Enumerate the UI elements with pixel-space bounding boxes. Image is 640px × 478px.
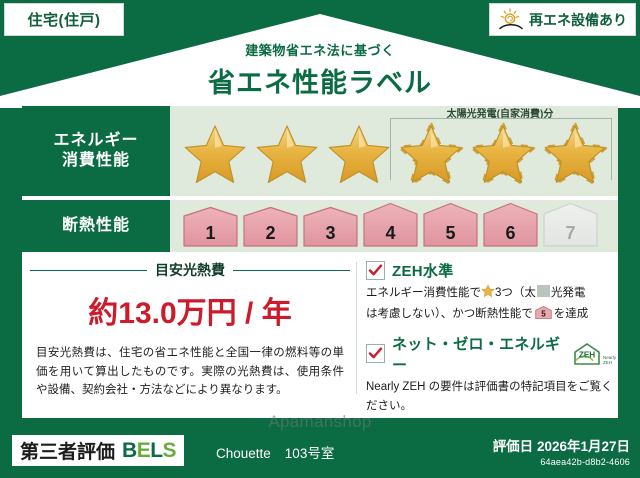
energy-performance-label: エネルギー 消費性能 (22, 106, 170, 196)
evaluation-date: 評価日 2026年1月27日 (493, 435, 630, 455)
net-zero-energy-description: Nearly ZEH の要件は評価書の特記項目をご覧ください。 (366, 378, 616, 417)
energy-performance-row: エネルギー 消費性能 太陽光発電(自家消費)分 (22, 106, 618, 196)
utility-cost-heading: 目安光熱費 (30, 260, 350, 280)
star-5 (468, 120, 538, 186)
label-subtitle: 建築物省エネ法に基づく (0, 40, 640, 59)
watermark: Apamanshop (0, 412, 640, 432)
checkbox-checked-icon-2 (366, 344, 385, 363)
star-3 (324, 120, 394, 186)
insulation-level-7: 7 (542, 202, 599, 248)
star-glyph (183, 124, 247, 184)
checkbox-checked-icon (366, 261, 385, 280)
zeh-column: ZEH水準 エネルギー消費性能で3つ（太光発電は考慮しない）、かつ断熱性能で5を… (366, 256, 616, 416)
star-2 (252, 120, 322, 186)
zeh-house-badge-icon: ZEH Nearly ZEH (572, 342, 616, 366)
utility-cost-heading-text: 目安光熱費 (155, 260, 225, 280)
utility-cost-note: 目安光熱費は、住宅の省エネ性能と全国一律の燃料等の単価を用いて算出したものです。… (30, 344, 350, 400)
bels-letter-l: L (150, 439, 162, 462)
insulation-level-number: 2 (265, 223, 275, 244)
zeh-desc-part-d: は考慮しない）、かつ断熱性能で (366, 308, 533, 320)
insulation-level-houses: 1234567 (182, 206, 599, 248)
zeh-desc-part-b: 3つ（太 (495, 287, 536, 299)
insulation-label-text: 断熱性能 (62, 216, 130, 236)
heading-rule-right (233, 270, 350, 271)
insulation-level-number: 4 (385, 223, 395, 244)
bels-logo-jp-text: 第三者評価 (20, 437, 115, 464)
evaluation-info: 評価日 2026年1月27日 64aea42b-d8b2-4606 (493, 435, 630, 467)
star-4 (396, 120, 466, 186)
star-glyph (399, 124, 463, 184)
insulation-level-number: 6 (505, 223, 515, 244)
room-number: 103号室 (285, 446, 335, 461)
zeh-standard-check-row: ZEH水準 (366, 260, 616, 281)
sun-icon (498, 8, 524, 32)
zeh-desc-part-a: エネルギー消費性能で (366, 287, 481, 299)
star-glyph (471, 124, 535, 184)
insulation-level-number: 3 (325, 223, 335, 244)
zeh-badge-sub2: ZEH (603, 360, 612, 365)
utility-cost-amount: 約13.0万円 / 年 (30, 288, 350, 332)
insulation-levels-area: 1234567 (170, 200, 618, 252)
evaluation-id: 64aea42b-d8b2-4606 (493, 457, 630, 467)
insulation-level-6: 6 (482, 202, 539, 248)
net-zero-energy-label: ネット・ゼロ・エネルギー (392, 333, 561, 375)
bels-letter-b: B (122, 439, 137, 462)
energy-stars-area: 太陽光発電(自家消費)分 (170, 106, 618, 196)
insulation-level-number: 1 (205, 223, 215, 244)
bels-letter-e: E (137, 439, 151, 462)
energy-label-line2: 消費性能 (62, 151, 130, 171)
insulation-performance-row: 断熱性能 1234567 (22, 200, 618, 252)
zeh-desc-part-c: 光発電 (551, 287, 586, 299)
insulation-level-number: 7 (565, 223, 575, 244)
insulation-level-4: 4 (362, 202, 419, 248)
heading-rule-left (30, 270, 147, 271)
insulation-level-2: 2 (242, 206, 299, 248)
insulation-level-number: 5 (445, 223, 455, 244)
net-zero-energy-check-row: ネット・ゼロ・エネルギー ZEH Nearly ZEH (366, 333, 616, 375)
footer-bar: 第三者評価 BELS Chouette103号室 評価日 2026年1月27日 … (0, 428, 640, 478)
bels-logo: 第三者評価 BELS (12, 435, 184, 466)
energy-star-rating (180, 120, 610, 186)
utility-cost-column: 目安光熱費 約13.0万円 / 年 目安光熱費は、住宅の省エネ性能と全国一律の燃… (30, 256, 350, 400)
zeh-desc-part-e: を達成 (554, 308, 589, 320)
star-glyph (255, 124, 319, 184)
column-divider (356, 262, 357, 394)
star-6 (540, 120, 610, 186)
bels-letter-s: S (163, 439, 177, 462)
renewable-energy-text: 再エネ設備あり (529, 10, 627, 30)
zeh-standard-description: エネルギー消費性能で3つ（太光発電は考慮しない）、かつ断熱性能で5を達成 (366, 284, 616, 325)
label-title: 省エネ性能ラベル (0, 61, 640, 100)
star-1 (180, 120, 250, 186)
bels-logo-wordmark: BELS (122, 439, 176, 463)
zeh-badge-subtext: Nearly ZEH (603, 356, 616, 366)
energy-label-line1: エネルギー (53, 131, 138, 151)
dwelling-type-text: 住宅(住戸) (28, 9, 101, 30)
dwelling-type-tag: 住宅(住戸) (4, 3, 124, 36)
redacted-character (537, 285, 550, 297)
insulation-performance-label: 断熱性能 (22, 200, 170, 252)
property-name: Chouette (216, 446, 271, 461)
insulation-level-1: 1 (182, 206, 239, 248)
renewable-energy-tag: 再エネ設備あり (489, 3, 636, 36)
bels-energy-label: 建築物省エネ法に基づく 省エネ性能ラベル 住宅(住戸) 再エネ設備あり (0, 0, 640, 478)
property-info: Chouette103号室 (216, 442, 334, 462)
inline-star-icon (481, 284, 495, 305)
insulation-level-5: 5 (422, 202, 479, 248)
label-body: エネルギー 消費性能 太陽光発電(自家消費)分 断熱性能 1234567 (22, 100, 618, 418)
star-glyph (543, 124, 607, 184)
inline-house-level-icon: 5 (535, 306, 552, 319)
lower-section: 目安光熱費 約13.0万円 / 年 目安光熱費は、住宅の省エネ性能と全国一律の燃… (22, 256, 618, 418)
title-block: 建築物省エネ法に基づく 省エネ性能ラベル (0, 40, 640, 100)
star-glyph (327, 124, 391, 184)
zeh-standard-label: ZEH水準 (392, 260, 454, 281)
zeh-badge-text: ZEH (579, 350, 595, 359)
inline-house-number: 5 (541, 310, 546, 319)
insulation-level-3: 3 (302, 206, 359, 248)
